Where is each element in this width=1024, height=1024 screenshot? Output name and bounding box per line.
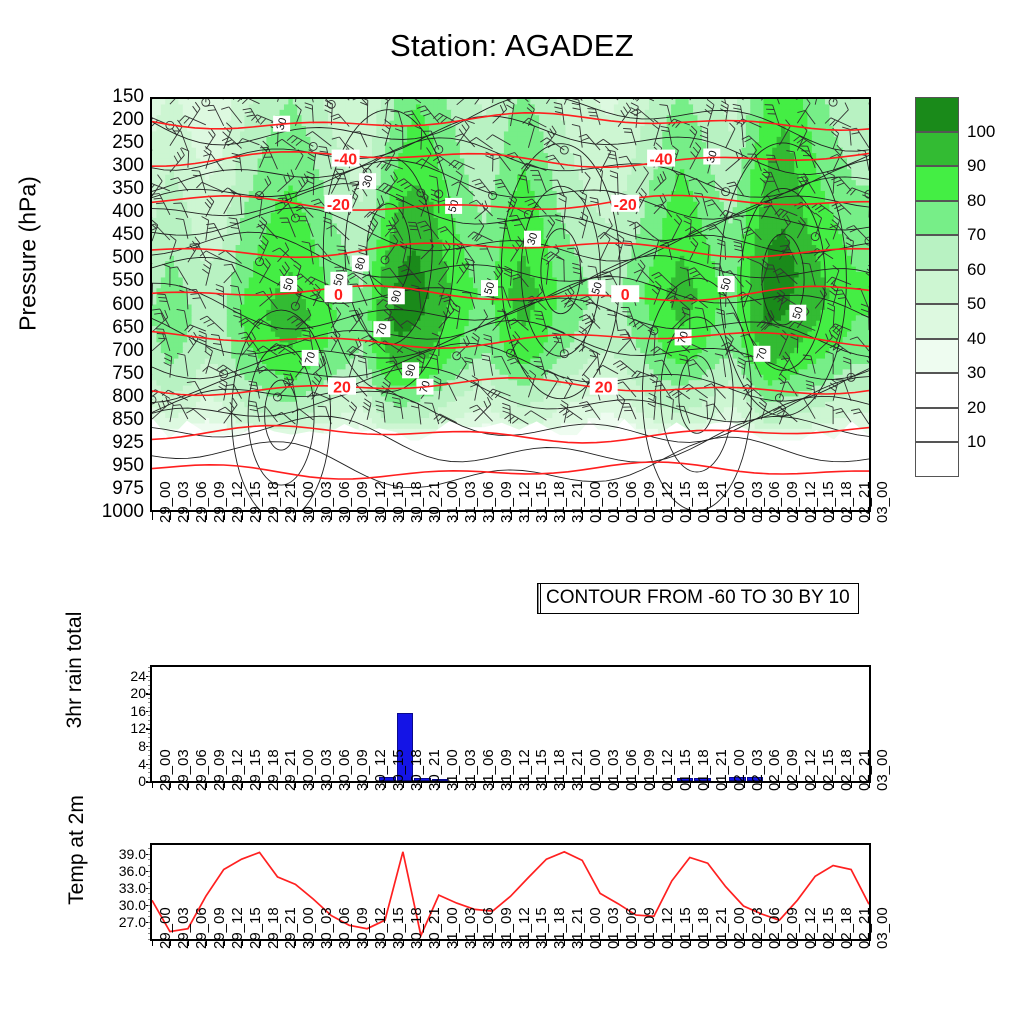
x-tick-label-02_18: 02_18 bbox=[838, 749, 855, 791]
x-tick-label-29_06: 29_06 bbox=[193, 907, 210, 949]
x-tick-label-02_18: 02_18 bbox=[838, 907, 855, 949]
x-tick-label-01_15: 01_15 bbox=[677, 481, 694, 523]
x-tick-mark bbox=[385, 512, 386, 520]
rain-y-tick-20: 20 bbox=[100, 685, 146, 701]
page-title: Station: AGADEZ bbox=[0, 28, 1024, 64]
y-tick-500: 500 bbox=[76, 247, 144, 269]
x-tick-mark bbox=[439, 783, 440, 788]
y-tick-450: 450 bbox=[76, 224, 144, 246]
x-tick-mark bbox=[349, 941, 350, 946]
colorbar-band-4[interactable] bbox=[915, 235, 959, 270]
x-tick-mark bbox=[295, 512, 296, 520]
x-tick-mark bbox=[654, 783, 655, 788]
x-tick-label-31_18: 31_18 bbox=[551, 749, 568, 791]
temp-y-tick-30: 30.0 bbox=[94, 897, 146, 913]
y-tick-750: 750 bbox=[76, 363, 144, 385]
x-tick-label-30_00: 30_00 bbox=[300, 749, 317, 791]
rain-y-tick-labels: 04812162024 bbox=[96, 665, 146, 783]
y-tick-650: 650 bbox=[76, 317, 144, 339]
x-tick-label-01_21: 01_21 bbox=[713, 907, 730, 949]
x-tick-label-01_03: 01_03 bbox=[605, 907, 622, 949]
x-tick-label-31_06: 31_06 bbox=[480, 481, 497, 523]
x-tick-label-01_06: 01_06 bbox=[623, 907, 640, 949]
y-tick-600: 600 bbox=[76, 294, 144, 316]
x-tick-label-30_03: 30_03 bbox=[318, 749, 335, 791]
x-tick-mark bbox=[206, 512, 207, 520]
x-tick-mark bbox=[600, 941, 601, 946]
x-tick-label-31_06: 31_06 bbox=[480, 907, 497, 949]
colorbar-band-0[interactable] bbox=[915, 97, 959, 132]
sounding-time-height-plot[interactable]: 30303030505050505050507070707070809090-4… bbox=[150, 97, 871, 512]
x-tick-mark bbox=[511, 783, 512, 788]
x-tick-mark bbox=[672, 783, 673, 788]
x-tick-label-31_09: 31_09 bbox=[498, 907, 515, 949]
x-tick-mark bbox=[869, 941, 870, 946]
x-tick-label-30_00: 30_00 bbox=[300, 907, 317, 949]
x-tick-label-30_21: 30_21 bbox=[426, 907, 443, 949]
x-tick-label-01_21: 01_21 bbox=[713, 749, 730, 791]
x-tick-label-31_15: 31_15 bbox=[533, 907, 550, 949]
x-tick-label-30_12: 30_12 bbox=[372, 907, 389, 949]
x-tick-label-03_00: 03_00 bbox=[874, 749, 891, 791]
x-tick-mark bbox=[654, 941, 655, 946]
x-tick-mark bbox=[331, 512, 332, 520]
rain-y-tick-0: 0 bbox=[100, 773, 146, 789]
x-tick-mark bbox=[618, 512, 619, 520]
x-tick-label-02_00: 02_00 bbox=[731, 907, 748, 949]
x-tick-mark bbox=[152, 941, 153, 946]
x-tick-label-02_12: 02_12 bbox=[802, 907, 819, 949]
x-tick-mark bbox=[761, 783, 762, 788]
x-tick-label-01_06: 01_06 bbox=[623, 749, 640, 791]
x-tick-label-02_21: 02_21 bbox=[856, 481, 873, 523]
x-tick-label-02_03: 02_03 bbox=[749, 749, 766, 791]
x-tick-label-30_03: 30_03 bbox=[318, 907, 335, 949]
x-tick-mark bbox=[833, 783, 834, 788]
x-tick-label-02_09: 02_09 bbox=[784, 749, 801, 791]
x-tick-label-30_09: 30_09 bbox=[354, 907, 371, 949]
x-tick-mark bbox=[493, 512, 494, 520]
x-tick-mark bbox=[206, 783, 207, 788]
x-tick-mark bbox=[367, 941, 368, 946]
colorbar-band-7[interactable] bbox=[915, 339, 959, 374]
x-tick-label-02_03: 02_03 bbox=[749, 907, 766, 949]
temp-x-axis-labels: 29_0029_0329_0629_0929_1229_1529_1829_21… bbox=[150, 941, 871, 1001]
main-x-axis-labels: 29_0029_0329_0629_0929_1229_1529_1829_21… bbox=[150, 512, 871, 582]
x-tick-mark bbox=[582, 783, 583, 788]
x-tick-mark bbox=[152, 512, 153, 520]
rain-y-tick-12: 12 bbox=[100, 720, 146, 736]
x-tick-label-31_18: 31_18 bbox=[551, 481, 568, 523]
x-tick-mark bbox=[224, 783, 225, 788]
x-tick-label-01_06: 01_06 bbox=[623, 481, 640, 523]
x-tick-label-01_00: 01_00 bbox=[587, 749, 604, 791]
x-tick-label-29_18: 29_18 bbox=[265, 907, 282, 949]
x-tick-label-30_09: 30_09 bbox=[354, 749, 371, 791]
x-tick-label-30_03: 30_03 bbox=[318, 481, 335, 523]
colorbar-band-3[interactable] bbox=[915, 201, 959, 236]
x-tick-label-31_06: 31_06 bbox=[480, 749, 497, 791]
colorbar-band-8[interactable] bbox=[915, 373, 959, 408]
x-tick-label-31_12: 31_12 bbox=[516, 749, 533, 791]
x-tick-label-29_09: 29_09 bbox=[211, 907, 228, 949]
rain-y-tick-24: 24 bbox=[100, 668, 146, 684]
y-tick-350: 350 bbox=[76, 178, 144, 200]
x-tick-label-29_00: 29_00 bbox=[157, 749, 174, 791]
x-tick-mark bbox=[403, 512, 404, 520]
x-tick-mark bbox=[726, 783, 727, 788]
x-tick-mark bbox=[277, 512, 278, 520]
humidity-colorbar[interactable]: 100908070605040302010 bbox=[915, 97, 959, 477]
x-tick-label-03_00: 03_00 bbox=[874, 481, 891, 523]
x-tick-mark bbox=[260, 783, 261, 788]
colorbar-label-100: 100 bbox=[967, 122, 995, 142]
x-tick-label-01_15: 01_15 bbox=[677, 907, 694, 949]
x-tick-mark bbox=[564, 941, 565, 946]
x-tick-mark bbox=[421, 783, 422, 788]
x-tick-label-01_03: 01_03 bbox=[605, 481, 622, 523]
x-tick-mark bbox=[277, 783, 278, 788]
x-tick-mark bbox=[403, 941, 404, 946]
y-tick-550: 550 bbox=[76, 270, 144, 292]
y-tick-800: 800 bbox=[76, 386, 144, 408]
x-tick-label-02_12: 02_12 bbox=[802, 481, 819, 523]
x-tick-label-02_15: 02_15 bbox=[820, 481, 837, 523]
temp-y-tick-39: 39.0 bbox=[94, 846, 146, 862]
x-tick-mark bbox=[439, 941, 440, 946]
x-tick-mark bbox=[654, 512, 655, 520]
x-tick-mark bbox=[511, 941, 512, 946]
x-tick-label-31_00: 31_00 bbox=[444, 481, 461, 523]
x-tick-label-01_09: 01_09 bbox=[641, 749, 658, 791]
x-tick-label-29_21: 29_21 bbox=[282, 907, 299, 949]
x-tick-label-02_21: 02_21 bbox=[856, 749, 873, 791]
x-tick-label-29_15: 29_15 bbox=[247, 749, 264, 791]
x-tick-label-02_00: 02_00 bbox=[731, 481, 748, 523]
x-tick-mark bbox=[744, 512, 745, 520]
x-tick-mark bbox=[152, 783, 153, 788]
x-tick-mark bbox=[618, 783, 619, 788]
x-tick-mark bbox=[475, 512, 476, 520]
x-tick-label-02_00: 02_00 bbox=[731, 749, 748, 791]
x-tick-label-29_15: 29_15 bbox=[247, 907, 264, 949]
x-tick-mark bbox=[582, 941, 583, 946]
x-tick-mark bbox=[260, 941, 261, 946]
x-tick-label-31_21: 31_21 bbox=[569, 481, 586, 523]
x-tick-label-02_09: 02_09 bbox=[784, 907, 801, 949]
x-tick-mark bbox=[242, 512, 243, 520]
x-tick-label-02_03: 02_03 bbox=[749, 481, 766, 523]
y-tick-400: 400 bbox=[76, 201, 144, 223]
x-tick-mark bbox=[690, 512, 691, 520]
x-tick-mark bbox=[385, 941, 386, 946]
colorbar-band-1[interactable] bbox=[915, 132, 959, 167]
x-tick-mark bbox=[708, 512, 709, 520]
x-tick-mark bbox=[493, 783, 494, 788]
x-tick-mark bbox=[744, 783, 745, 788]
colorbar-label-90: 90 bbox=[967, 156, 986, 176]
x-tick-mark bbox=[761, 941, 762, 946]
rain-y-tick-16: 16 bbox=[100, 703, 146, 719]
x-tick-label-01_09: 01_09 bbox=[641, 481, 658, 523]
x-tick-mark bbox=[331, 783, 332, 788]
x-tick-label-30_06: 30_06 bbox=[336, 907, 353, 949]
x-tick-mark bbox=[313, 783, 314, 788]
y-tick-850: 850 bbox=[76, 409, 144, 431]
x-tick-label-30_09: 30_09 bbox=[354, 481, 371, 523]
x-tick-mark bbox=[797, 941, 798, 946]
y-tick-250: 250 bbox=[76, 132, 144, 154]
x-tick-mark bbox=[224, 512, 225, 520]
x-tick-mark bbox=[457, 941, 458, 946]
x-tick-label-01_00: 01_00 bbox=[587, 907, 604, 949]
x-tick-mark bbox=[564, 783, 565, 788]
x-tick-mark bbox=[708, 941, 709, 946]
x-tick-mark bbox=[636, 783, 637, 788]
x-tick-label-02_06: 02_06 bbox=[766, 749, 783, 791]
x-tick-mark bbox=[636, 512, 637, 520]
x-tick-mark bbox=[546, 512, 547, 520]
x-tick-mark bbox=[833, 941, 834, 946]
x-tick-label-30_12: 30_12 bbox=[372, 481, 389, 523]
x-tick-mark bbox=[851, 941, 852, 946]
x-tick-label-30_18: 30_18 bbox=[408, 907, 425, 949]
x-tick-mark bbox=[385, 783, 386, 788]
x-tick-mark bbox=[546, 783, 547, 788]
colorbar-label-10: 10 bbox=[967, 432, 986, 452]
x-tick-mark bbox=[493, 941, 494, 946]
rain-y-tick-8: 8 bbox=[100, 738, 146, 754]
y-tick-925: 925 bbox=[76, 432, 144, 454]
x-tick-label-01_09: 01_09 bbox=[641, 907, 658, 949]
x-tick-mark bbox=[528, 512, 529, 520]
x-tick-mark bbox=[815, 512, 816, 520]
x-tick-label-02_15: 02_15 bbox=[820, 907, 837, 949]
x-tick-label-30_21: 30_21 bbox=[426, 481, 443, 523]
y-tick-1000: 1000 bbox=[76, 501, 144, 523]
x-tick-mark bbox=[726, 512, 727, 520]
x-tick-mark bbox=[869, 783, 870, 788]
rain-y-tick-4: 4 bbox=[100, 756, 146, 772]
x-tick-label-01_18: 01_18 bbox=[695, 749, 712, 791]
colorbar-label-40: 40 bbox=[967, 329, 986, 349]
x-tick-label-31_03: 31_03 bbox=[462, 907, 479, 949]
y-tick-950: 950 bbox=[76, 455, 144, 477]
x-tick-mark bbox=[690, 783, 691, 788]
x-tick-label-31_18: 31_18 bbox=[551, 907, 568, 949]
colorbar-label-80: 80 bbox=[967, 191, 986, 211]
x-tick-label-30_06: 30_06 bbox=[336, 749, 353, 791]
x-tick-label-31_00: 31_00 bbox=[444, 907, 461, 949]
x-tick-label-02_06: 02_06 bbox=[766, 907, 783, 949]
x-tick-label-29_12: 29_12 bbox=[229, 907, 246, 949]
temp-y-tick-36: 36.0 bbox=[94, 863, 146, 879]
x-tick-mark bbox=[726, 941, 727, 946]
x-tick-label-31_00: 31_00 bbox=[444, 749, 461, 791]
colorbar-label-70: 70 bbox=[967, 225, 986, 245]
sounding-svg: 30303030505050505050507070707070809090-4… bbox=[152, 99, 869, 510]
colorbar-band-9[interactable] bbox=[915, 408, 959, 443]
x-tick-mark bbox=[439, 512, 440, 520]
x-tick-label-29_09: 29_09 bbox=[211, 749, 228, 791]
x-tick-label-02_18: 02_18 bbox=[838, 481, 855, 523]
x-tick-mark bbox=[672, 941, 673, 946]
x-tick-mark bbox=[833, 512, 834, 520]
x-tick-mark bbox=[349, 512, 350, 520]
x-tick-mark bbox=[528, 783, 529, 788]
x-tick-mark bbox=[170, 941, 171, 946]
x-tick-label-31_03: 31_03 bbox=[462, 749, 479, 791]
x-tick-mark bbox=[690, 941, 691, 946]
x-tick-mark bbox=[672, 512, 673, 520]
x-tick-mark bbox=[242, 783, 243, 788]
x-tick-mark bbox=[475, 783, 476, 788]
x-tick-label-29_18: 29_18 bbox=[265, 749, 282, 791]
x-tick-mark bbox=[528, 941, 529, 946]
x-tick-mark bbox=[457, 783, 458, 788]
temp-y-tick-33: 33.0 bbox=[94, 880, 146, 896]
x-tick-label-02_21: 02_21 bbox=[856, 907, 873, 949]
x-tick-mark bbox=[188, 941, 189, 946]
x-tick-label-31_03: 31_03 bbox=[462, 481, 479, 523]
x-tick-mark bbox=[367, 512, 368, 520]
x-tick-label-29_03: 29_03 bbox=[175, 907, 192, 949]
temp-y-tick-27: 27.0 bbox=[94, 914, 146, 930]
x-tick-label-29_15: 29_15 bbox=[247, 481, 264, 523]
x-tick-label-01_00: 01_00 bbox=[587, 481, 604, 523]
x-tick-label-02_06: 02_06 bbox=[766, 481, 783, 523]
x-tick-label-01_12: 01_12 bbox=[659, 907, 676, 949]
x-tick-mark bbox=[421, 941, 422, 946]
temp-y-tick-labels: 27.030.033.036.039.0 bbox=[90, 843, 146, 941]
x-tick-mark bbox=[224, 941, 225, 946]
x-tick-label-01_03: 01_03 bbox=[605, 749, 622, 791]
x-tick-mark bbox=[708, 783, 709, 788]
x-tick-label-01_15: 01_15 bbox=[677, 749, 694, 791]
x-tick-label-29_12: 29_12 bbox=[229, 749, 246, 791]
x-tick-label-29_00: 29_00 bbox=[157, 481, 174, 523]
x-tick-mark bbox=[761, 512, 762, 520]
x-tick-label-31_09: 31_09 bbox=[498, 749, 515, 791]
x-tick-mark bbox=[349, 783, 350, 788]
x-tick-label-31_15: 31_15 bbox=[533, 749, 550, 791]
colorbar-band-6[interactable] bbox=[915, 304, 959, 339]
x-tick-label-31_15: 31_15 bbox=[533, 481, 550, 523]
x-tick-label-03_00: 03_00 bbox=[874, 907, 891, 949]
x-tick-mark bbox=[779, 783, 780, 788]
x-tick-label-30_18: 30_18 bbox=[408, 749, 425, 791]
colorbar-band-5[interactable] bbox=[915, 270, 959, 305]
colorbar-label-30: 30 bbox=[967, 363, 986, 383]
x-tick-label-29_21: 29_21 bbox=[282, 481, 299, 523]
x-tick-mark bbox=[457, 512, 458, 520]
x-tick-mark bbox=[421, 512, 422, 520]
x-tick-mark bbox=[403, 783, 404, 788]
x-tick-mark bbox=[546, 941, 547, 946]
x-tick-label-01_12: 01_12 bbox=[659, 749, 676, 791]
x-tick-mark bbox=[851, 512, 852, 520]
x-tick-mark bbox=[188, 783, 189, 788]
colorbar-label-60: 60 bbox=[967, 260, 986, 280]
x-tick-label-01_12: 01_12 bbox=[659, 481, 676, 523]
x-tick-label-01_21: 01_21 bbox=[713, 481, 730, 523]
x-tick-mark bbox=[295, 941, 296, 946]
x-tick-label-30_21: 30_21 bbox=[426, 749, 443, 791]
x-tick-mark bbox=[206, 941, 207, 946]
colorbar-band-2[interactable] bbox=[915, 166, 959, 201]
x-tick-mark bbox=[313, 941, 314, 946]
x-tick-label-29_03: 29_03 bbox=[175, 749, 192, 791]
x-tick-mark bbox=[779, 941, 780, 946]
x-tick-label-31_09: 31_09 bbox=[498, 481, 515, 523]
colorbar-band-10[interactable] bbox=[915, 442, 959, 477]
y-tick-150: 150 bbox=[76, 86, 144, 108]
y-tick-700: 700 bbox=[76, 340, 144, 362]
x-tick-mark bbox=[815, 783, 816, 788]
y-tick-200: 200 bbox=[76, 109, 144, 131]
x-tick-label-01_18: 01_18 bbox=[695, 907, 712, 949]
colorbar-label-50: 50 bbox=[967, 294, 986, 314]
x-tick-mark bbox=[242, 941, 243, 946]
x-tick-label-02_12: 02_12 bbox=[802, 749, 819, 791]
x-tick-mark bbox=[511, 512, 512, 520]
x-tick-label-30_06: 30_06 bbox=[336, 481, 353, 523]
x-tick-mark bbox=[618, 941, 619, 946]
x-tick-label-29_09: 29_09 bbox=[211, 481, 228, 523]
x-tick-label-29_18: 29_18 bbox=[265, 481, 282, 523]
contour-note: CONTOUR FROM -60 TO 30 BY 10 bbox=[537, 583, 859, 614]
x-tick-label-30_15: 30_15 bbox=[390, 481, 407, 523]
x-tick-mark bbox=[600, 512, 601, 520]
x-tick-mark bbox=[277, 941, 278, 946]
x-tick-label-30_15: 30_15 bbox=[390, 907, 407, 949]
x-tick-label-29_03: 29_03 bbox=[175, 481, 192, 523]
x-tick-mark bbox=[869, 512, 870, 520]
x-tick-label-31_21: 31_21 bbox=[569, 907, 586, 949]
x-tick-label-30_00: 30_00 bbox=[300, 481, 317, 523]
main-y-tick-labels: 1502002503003504004505005506006507007508… bbox=[70, 97, 144, 512]
y-tick-975: 975 bbox=[76, 478, 144, 500]
x-tick-mark bbox=[475, 941, 476, 946]
x-tick-label-30_15: 30_15 bbox=[390, 749, 407, 791]
x-tick-label-30_18: 30_18 bbox=[408, 481, 425, 523]
main-y-axis-label: Pressure (hPa) bbox=[15, 104, 42, 404]
x-tick-mark bbox=[188, 512, 189, 520]
x-tick-label-01_18: 01_18 bbox=[695, 481, 712, 523]
x-tick-label-02_15: 02_15 bbox=[820, 749, 837, 791]
x-tick-mark bbox=[815, 941, 816, 946]
x-tick-mark bbox=[797, 512, 798, 520]
x-tick-label-02_09: 02_09 bbox=[784, 481, 801, 523]
x-tick-mark bbox=[851, 783, 852, 788]
x-tick-mark bbox=[779, 512, 780, 520]
x-tick-label-29_12: 29_12 bbox=[229, 481, 246, 523]
x-tick-label-29_00: 29_00 bbox=[157, 907, 174, 949]
x-tick-mark bbox=[744, 941, 745, 946]
x-tick-label-31_12: 31_12 bbox=[516, 907, 533, 949]
x-tick-mark bbox=[636, 941, 637, 946]
x-tick-label-29_21: 29_21 bbox=[282, 749, 299, 791]
x-tick-mark bbox=[331, 941, 332, 946]
y-tick-300: 300 bbox=[76, 155, 144, 177]
x-tick-mark bbox=[600, 783, 601, 788]
x-tick-mark bbox=[582, 512, 583, 520]
x-tick-mark bbox=[170, 783, 171, 788]
x-tick-mark bbox=[367, 783, 368, 788]
rain-x-axis-labels: 29_0029_0329_0629_0929_1229_1529_1829_21… bbox=[150, 783, 871, 843]
x-tick-mark bbox=[170, 512, 171, 520]
x-tick-label-30_12: 30_12 bbox=[372, 749, 389, 791]
